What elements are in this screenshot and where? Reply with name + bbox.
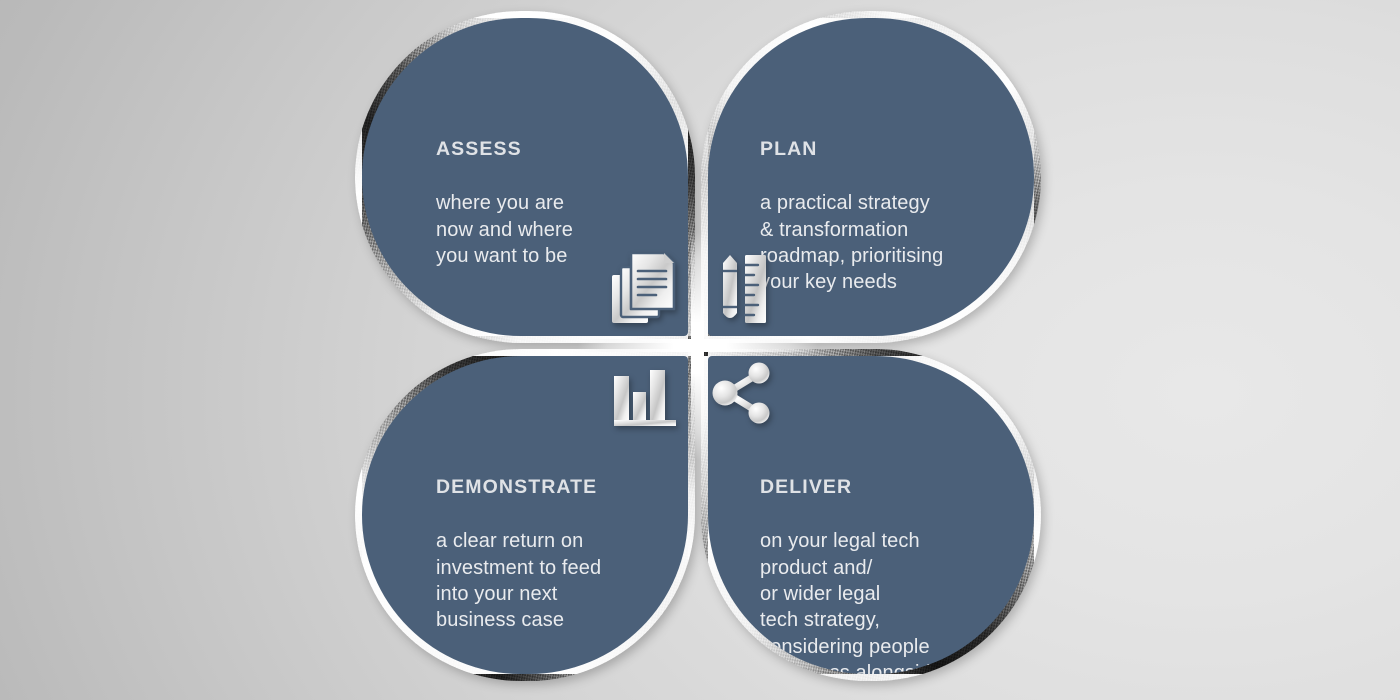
clover-diagram: ASSESS where you are now and where you w… bbox=[362, 18, 1034, 674]
share-network-icon bbox=[712, 362, 774, 424]
bar-chart-icon bbox=[614, 370, 676, 428]
petal-deliver-body: on your legal tech product and/ or wider… bbox=[760, 528, 942, 674]
petal-deliver-text: DELIVER on your legal tech product and/ … bbox=[760, 448, 942, 674]
infographic-canvas: ASSESS where you are now and where you w… bbox=[0, 0, 1400, 700]
pencil-ruler-icon bbox=[714, 253, 766, 325]
documents-icon bbox=[612, 253, 680, 325]
petal-deliver-heading: DELIVER bbox=[760, 474, 942, 500]
petal-deliver-shadow: DELIVER on your legal tech product and/ … bbox=[362, 18, 1034, 674]
